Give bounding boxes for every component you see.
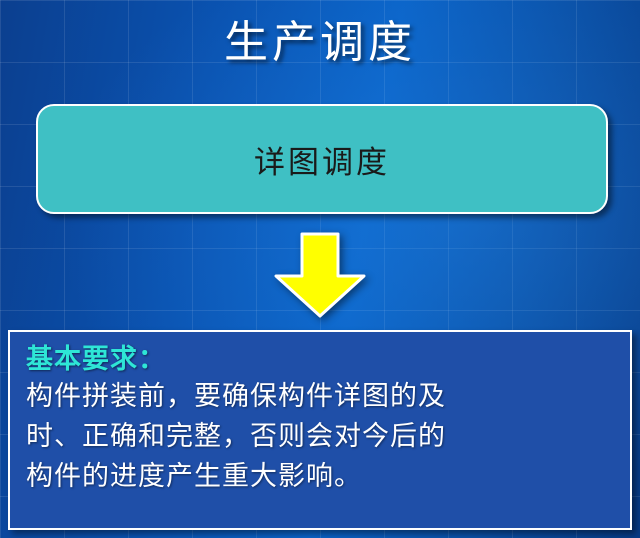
note-box: 基本要求： 构件拼装前，要确保构件详图的及 时、正确和完整，否则会对今后的 构件… [8, 330, 632, 530]
note-body-line: 构件的进度产生重大影响。 [26, 456, 616, 496]
slide-canvas: 生产调度 详图调度 基本要求： 构件拼装前，要确保构件详图的及 时、正确和完整，… [0, 0, 640, 538]
note-heading: 基本要求： [26, 342, 616, 376]
note-body-line: 构件拼装前，要确保构件详图的及 [26, 376, 616, 416]
page-title: 生产调度 [0, 6, 640, 70]
topic-box-label: 详图调度 [254, 137, 390, 182]
note-body-line: 时、正确和完整，否则会对今后的 [26, 416, 616, 456]
topic-box: 详图调度 [36, 104, 608, 214]
down-arrow-icon [272, 232, 368, 318]
note-body: 构件拼装前，要确保构件详图的及 时、正确和完整，否则会对今后的 构件的进度产生重… [26, 376, 616, 496]
